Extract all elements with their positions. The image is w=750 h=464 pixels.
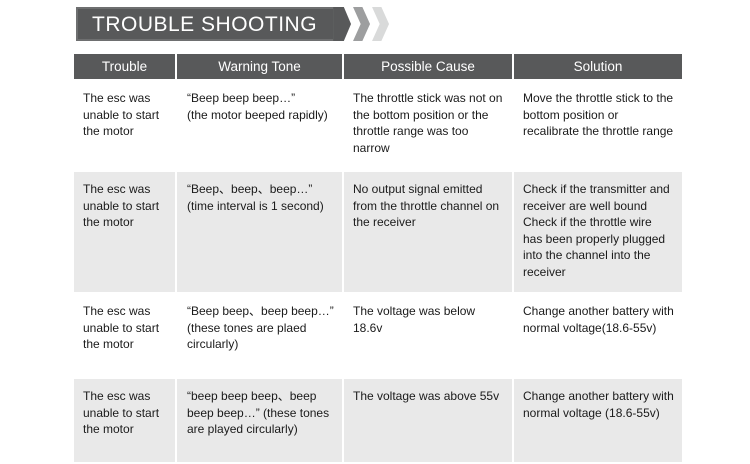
column-header-trouble: Trouble [74, 54, 175, 79]
cell-warning-tone: “Beep beep、beep beep…” (these tones are … [177, 294, 342, 377]
cell-possible-cause: No output signal emitted from the thrott… [344, 172, 512, 292]
column-header-possible-cause: Possible Cause [344, 54, 512, 79]
cell-warning-tone: “Beep beep beep…” (the motor beeped rapi… [177, 81, 342, 170]
cell-possible-cause: The voltage was below 18.6v [344, 294, 512, 377]
table-row: The esc was unable to start the motor “B… [74, 294, 682, 377]
table-header-row: Trouble Warning Tone Possible Cause Solu… [74, 54, 682, 79]
cell-trouble: The esc was unable to start the motor [74, 172, 175, 292]
page-title: TROUBLE SHOOTING [92, 14, 317, 35]
chevron-right-icon-light [372, 7, 389, 41]
cell-warning-tone: “Beep、beep、beep…” (time interval is 1 se… [177, 172, 342, 292]
section-banner: TROUBLE SHOOTING [76, 7, 389, 41]
page-root: TROUBLE SHOOTING Trouble Warning Tone Po… [0, 0, 750, 412]
cell-solution: Move the throttle stick to the bottom po… [514, 81, 682, 170]
cell-trouble: The esc was unable to start the motor [74, 294, 175, 377]
table-row: The esc was unable to start the motor “B… [74, 81, 682, 170]
column-header-warning-tone: Warning Tone [177, 54, 342, 79]
cell-solution: Check if the transmitter and receiver ar… [514, 172, 682, 292]
column-header-solution: Solution [514, 54, 682, 79]
banner-body: TROUBLE SHOOTING [76, 7, 333, 41]
cell-possible-cause: The throttle stick was not on the bottom… [344, 81, 512, 170]
cell-solution: Change another battery with normal volta… [514, 294, 682, 377]
cell-trouble: The esc was unable to start the motor [74, 81, 175, 170]
cell-possible-cause: The voltage was above 55v [344, 379, 512, 462]
cell-solution: Change another battery with normal volta… [514, 379, 682, 462]
troubleshooting-table: Trouble Warning Tone Possible Cause Solu… [72, 52, 684, 464]
table-row: The esc was unable to start the motor “b… [74, 379, 682, 462]
cell-warning-tone: “beep beep beep、beep beep beep…” (these … [177, 379, 342, 462]
banner-arrow-head-icon [333, 7, 351, 41]
table-row: The esc was unable to start the motor “B… [74, 172, 682, 292]
chevron-right-icon-medium [353, 7, 370, 41]
cell-trouble: The esc was unable to start the motor [74, 379, 175, 462]
